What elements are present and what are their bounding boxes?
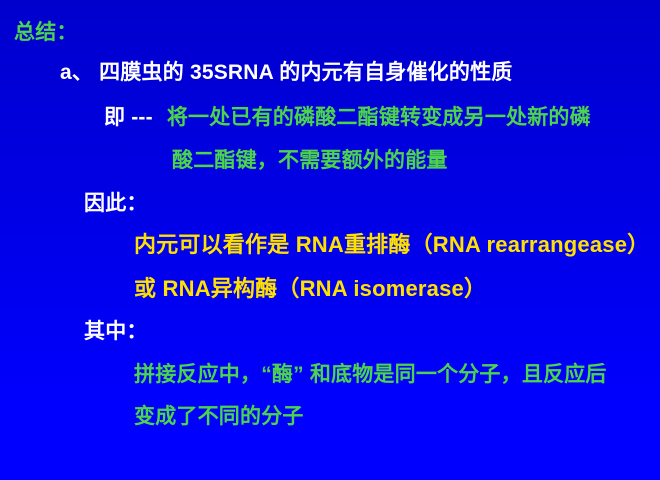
- detail-line-1: 拼接反应中，“酶” 和底物是同一个分子，且反应后: [134, 364, 607, 385]
- summary-heading: 总结：: [14, 22, 78, 43]
- detail-line-2: 变成了不同的分子: [134, 406, 304, 427]
- explanation-body-1: 将一处已有的磷酸二酯键转变成另一处新的磷: [167, 106, 591, 129]
- point-a-text: a、 四膜虫的 35SRNA 的内元有自身催化的性质: [60, 62, 512, 83]
- explanation-body-2: 酸二酯键，不需要额外的能量: [172, 150, 448, 171]
- conclusion-isomerase: 或 RNA异构酶（RNA isomerase）: [134, 278, 486, 300]
- slide-canvas: 总结： a、 四膜虫的 35SRNA 的内元有自身催化的性质 即 ---将一处已…: [0, 0, 660, 480]
- explanation-line-1: 即 ---将一处已有的磷酸二酯键转变成另一处新的磷: [104, 107, 591, 128]
- therefore-heading: 因此：: [84, 193, 148, 214]
- among-which-heading: 其中：: [84, 321, 148, 342]
- explanation-marker: 即 ---: [104, 106, 153, 129]
- conclusion-rearrangease: 内元可以看作是 RNA重排酶（RNA rearrangease）: [134, 234, 649, 256]
